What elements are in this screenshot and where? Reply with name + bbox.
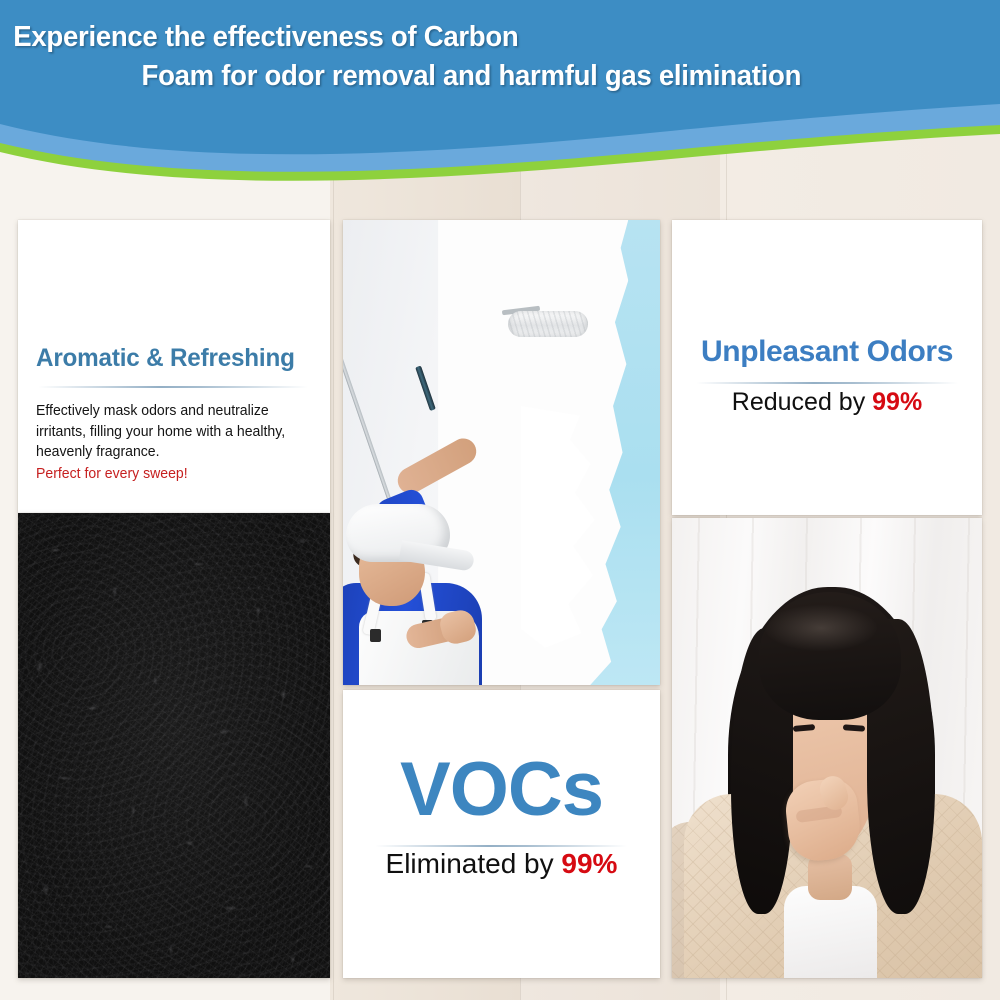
paint-roller-head xyxy=(508,311,588,337)
image-carbon-foam-texture xyxy=(18,513,330,978)
odors-subtext-prefix: Reduced by xyxy=(732,388,872,416)
card-vocs: VOCs Eliminated by 99% xyxy=(343,690,660,978)
page-title-line2: Foam for odor removal and harmful gas el… xyxy=(13,57,936,96)
odors-subtext: Reduced by 99% xyxy=(672,388,982,417)
vocs-subtext: Eliminated by 99% xyxy=(343,848,660,880)
odors-divider xyxy=(696,382,958,384)
vocs-divider xyxy=(375,845,627,847)
image-painter-rolling-wall xyxy=(343,220,660,685)
aromatic-divider xyxy=(38,386,308,388)
card-aromatic-refreshing: Aromatic & Refreshing Effectively mask o… xyxy=(18,220,330,513)
aromatic-tagline: Perfect for every sweep! xyxy=(36,466,312,482)
vocs-percent-value: 99% xyxy=(561,848,617,879)
page-title-line1: Experience the effectiveness of Carbon xyxy=(13,18,936,57)
card-unpleasant-odors: Unpleasant Odors Reduced by 99% xyxy=(672,220,982,515)
woman-neck xyxy=(808,854,852,900)
odors-percent-value: 99% xyxy=(872,388,922,416)
image-woman-pinching-nose xyxy=(672,518,982,978)
header-banner: Experience the effectiveness of Carbon F… xyxy=(0,0,1000,200)
woman-white-shirt xyxy=(784,886,877,978)
roller-nap-texture xyxy=(508,311,588,337)
aromatic-body-text: Effectively mask odors and neutralize ir… xyxy=(36,401,308,463)
vocs-heading: VOCs xyxy=(343,746,660,833)
vocs-subtext-prefix: Eliminated by xyxy=(386,848,562,879)
woman-hair-highlight xyxy=(765,605,877,651)
page-title: Experience the effectiveness of Carbon F… xyxy=(0,0,950,95)
aromatic-heading: Aromatic & Refreshing xyxy=(36,344,295,373)
odors-heading: Unpleasant Odors xyxy=(672,335,982,369)
painter-overall-clip xyxy=(370,629,381,642)
foam-texture-highlight xyxy=(18,513,330,978)
